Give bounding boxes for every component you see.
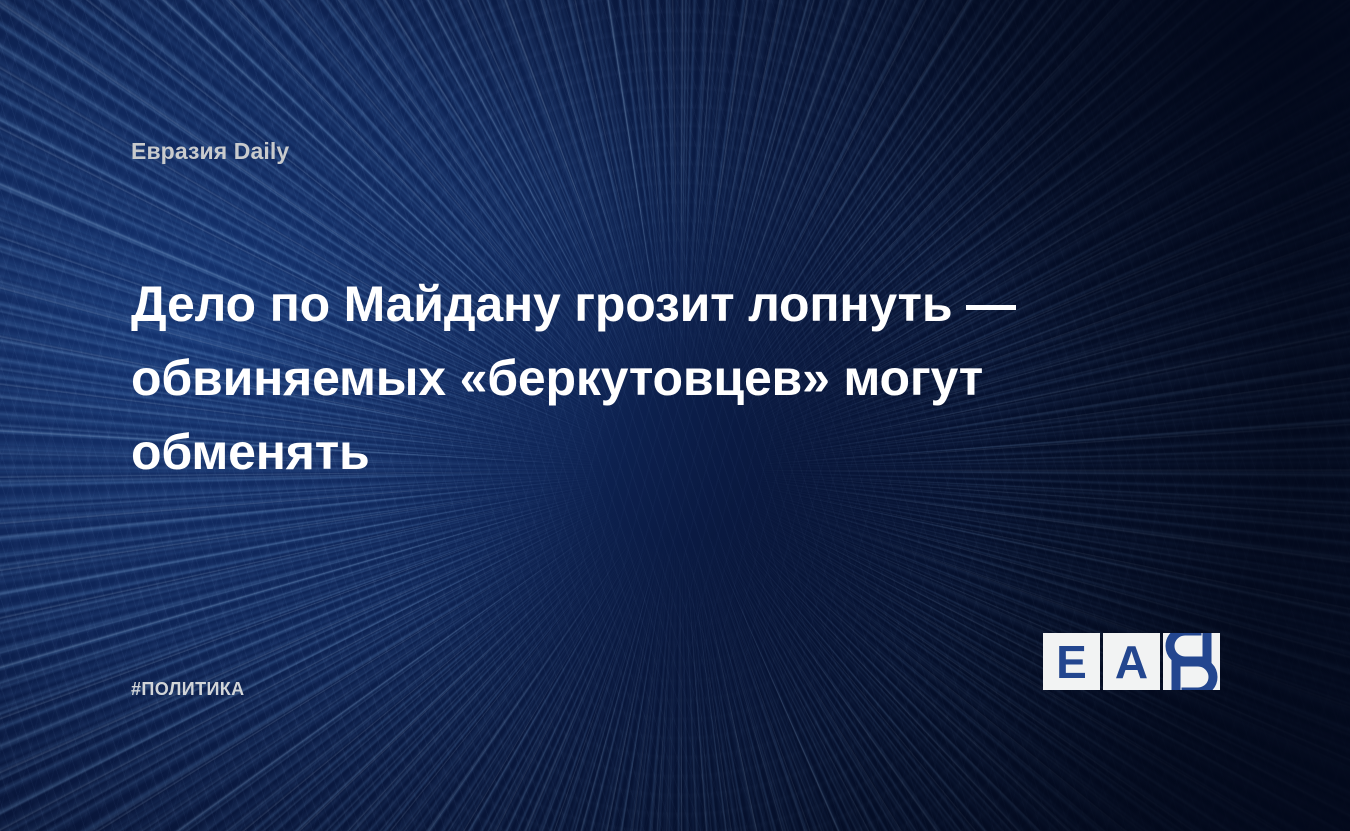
eadaily-logo[interactable]: E A [1043,633,1220,690]
logo-tile-a: A [1103,633,1160,690]
headline-title: Дело по Майдану грозит лопнуть — обвиняе… [131,267,1096,489]
logo-letter-a: A [1103,633,1160,690]
news-card: Евразия Daily Дело по Майдану грозит лоп… [0,0,1350,831]
category-hashtag[interactable]: #ПОЛИТИКА [131,679,245,700]
card-content: Евразия Daily Дело по Майдану грозит лоп… [0,0,1350,831]
logo-tile-d [1163,633,1220,690]
logo-tile-e: E [1043,633,1100,690]
split-d-mark-icon [1163,633,1220,690]
brand-label: Евразия Daily [131,138,289,165]
logo-letter-e: E [1043,633,1100,690]
